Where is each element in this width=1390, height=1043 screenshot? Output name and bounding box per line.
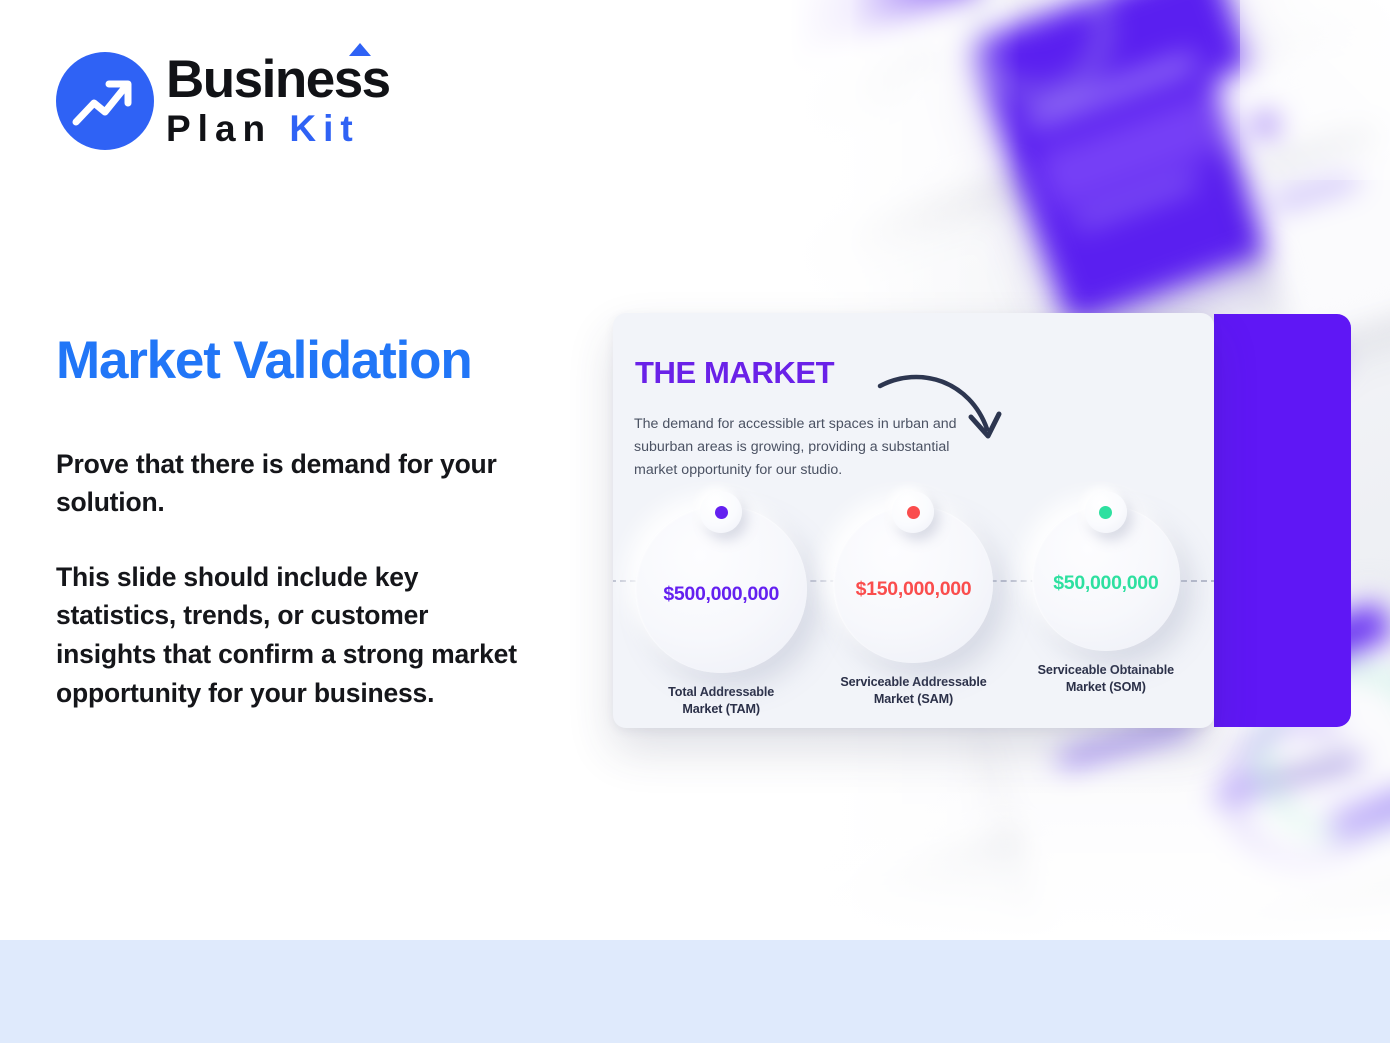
market-dot-icon (907, 506, 920, 519)
market-dot-icon (715, 506, 728, 519)
body-paragraph: This slide should include key statistics… (56, 558, 526, 713)
market-value-tam: $500,000,000 (663, 583, 779, 606)
curved-arrow-icon (875, 359, 1015, 455)
market-label-tam-line1: Total Addressable (668, 685, 774, 699)
the-market-card: THE MARKET The demand for accessible art… (613, 313, 1214, 728)
brand-plan-text: Plan (166, 108, 272, 149)
market-value-sam: $150,000,000 (856, 578, 972, 601)
market-label-sam: Serviceable Addressable Market (SAM) (840, 674, 986, 707)
market-item-sam: $150,000,000 Serviceable Addressable Mar… (820, 505, 1006, 707)
market-circles-row: $500,000,000 Total Addressable Market (T… (613, 505, 1214, 710)
bottom-accent-strip (0, 940, 1390, 1043)
market-circle-som: $50,000,000 (1032, 505, 1180, 651)
brand-line-plan-kit: Plan Kit (166, 110, 390, 147)
market-value-som: $50,000,000 (1053, 572, 1158, 595)
market-knob-sam (892, 491, 934, 533)
market-knob-som (1085, 491, 1127, 533)
market-label-som-line1: Serviceable Obtainable (1038, 663, 1174, 677)
market-circle-sam: $150,000,000 (833, 505, 993, 663)
market-item-som: $50,000,000 Serviceable Obtainable Marke… (1013, 505, 1199, 695)
brand-kit-text: Kit (289, 108, 359, 149)
lead-paragraph: Prove that there is demand for your solu… (56, 445, 576, 522)
brand-caret-icon (349, 43, 371, 56)
market-label-tam-line2: Market (TAM) (682, 702, 760, 716)
page-title: Market Validation (56, 332, 472, 390)
brand-line-business: Business (166, 55, 390, 105)
brand-line-business-text: Business (166, 50, 390, 109)
market-item-tam: $500,000,000 Total Addressable Market (T… (628, 505, 814, 717)
market-label-som: Serviceable Obtainable Market (SOM) (1038, 662, 1174, 695)
trend-arrow-circle-icon (56, 52, 154, 150)
brand-wordmark: Business Plan Kit (166, 55, 390, 146)
market-knob-tam (700, 491, 742, 533)
market-label-tam: Total Addressable Market (TAM) (668, 684, 774, 717)
slide-canvas: Business Plan Kit Market Validation Prov… (0, 0, 1390, 1043)
brand-logo: Business Plan Kit (56, 52, 390, 150)
left-content-panel: Business Plan Kit Market Validation Prov… (0, 0, 600, 940)
card-title: THE MARKET (635, 357, 834, 388)
market-dot-icon (1099, 506, 1112, 519)
market-label-som-line2: Market (SOM) (1066, 680, 1146, 694)
purple-accent-block (1214, 314, 1351, 727)
market-circle-tam: $500,000,000 (635, 505, 807, 673)
market-label-sam-line1: Serviceable Addressable (840, 675, 986, 689)
market-label-sam-line2: Market (SAM) (874, 692, 953, 706)
